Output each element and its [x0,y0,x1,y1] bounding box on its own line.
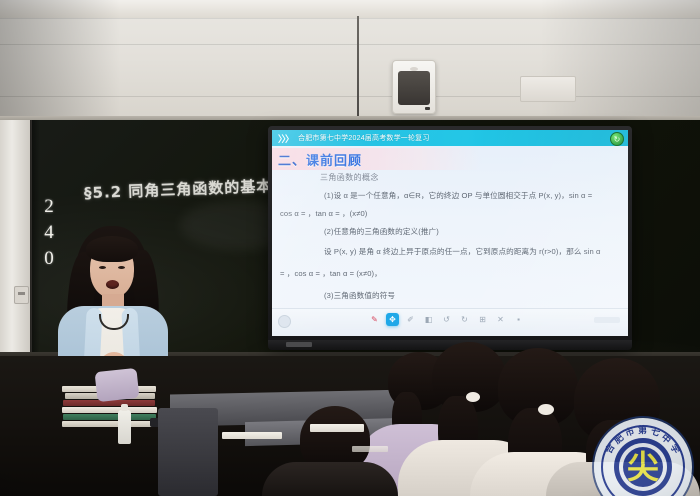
teacher-eye-left [99,266,106,269]
logo-char: 学 [668,441,684,455]
podium [158,408,218,496]
smart-display-screen[interactable]: 〉〉〉 合肥市第七中学2024届高考数学一轮复习 ↻ 二、课前回顾 三角函数的概… [272,130,628,336]
slide-subtitle: 三角函数的概念 [320,172,379,183]
page-circle-icon[interactable] [278,315,291,328]
teacher-eye-right [118,266,125,269]
slide-section-number: 二、 [278,153,306,168]
desk-paper [310,424,364,432]
hair-tie [538,404,554,415]
logo-char: 第 [638,423,647,436]
book [63,414,156,420]
wall-speaker-unit [392,60,436,114]
slide-line-4: 设 P(x, y) 是角 α 终边上异于原点的任一点，它到原点的距离为 r(r>… [324,246,601,257]
wall-panel-plate [520,76,576,102]
book [62,421,158,427]
speaker-led-icon [425,107,430,110]
toolbar-icon-group: ✎✥✐◧↺↻⊞✕▪ [368,313,525,326]
teacher-fringe [86,236,138,262]
slide-section-title: 课前回顾 [306,153,362,168]
annotate-icon[interactable]: ✎ [368,313,381,326]
slide-line-3: (2)任意角的三角函数的定义(推广) [324,226,439,237]
redo-icon[interactable]: ↻ [458,313,471,326]
classroom-screenshot: §5.2 同角三角函数的基本关系 2 4 0 〉〉〉 合肥市第七中学2024届高… [0,0,700,496]
slide-line-1: (1)设 α 是一个任意角，α∈R，它的终边 OP 与单位圆相交于点 P(x, … [324,190,592,201]
pen-icon[interactable]: ✐ [404,313,417,326]
hair-tie [466,392,480,402]
hanging-cable [357,16,359,128]
logo-glyph-icon: 尖 [623,445,663,489]
student-shoulders [262,462,398,496]
speaker-grille [398,71,430,105]
more-icon[interactable]: ▪ [512,313,525,326]
close-icon[interactable]: ✕ [494,313,507,326]
chevron-right-icon: 〉〉〉 [278,132,293,145]
pointer-icon[interactable]: ✥ [386,313,399,326]
chalk-digit: 2 [36,194,62,220]
slide-line-2: cos α = ，tan α = ，(x≠0) [280,208,367,219]
slide-header-bar: 〉〉〉 合肥市第七中学2024届高考数学一轮复习 ↻ [272,130,628,146]
eraser-icon[interactable]: ◧ [422,313,435,326]
desk-paper [352,446,388,452]
teacher-bag [95,368,140,402]
toolbar-right-stub [594,317,620,323]
refresh-icon[interactable]: ↻ [610,132,624,146]
slide-title: 二、课前回顾 [278,150,362,169]
display-brand-logo [286,342,312,347]
teacher-mouth [106,280,119,289]
grid-icon[interactable]: ⊞ [476,313,489,326]
course-title: 合肥市第七中学2024届高考数学一轮复习 [298,133,430,143]
undo-icon[interactable]: ↺ [440,313,453,326]
whiteboard-side-panel [0,120,32,360]
water-bottle [118,410,131,444]
wall-shadow-left [0,0,120,130]
slide-line-6: (3)三角函数值的符号 [324,290,395,301]
hefei-no7-high-school-logo: 合肥市第七中学 尖 HEFEI NO.7 HIGH SCHOOL [594,418,692,496]
logo-char: 市 [623,424,636,439]
slide-line-5: = ，cos α = ，tan α = (x≠0)， [280,268,382,279]
logo-char: 合 [602,441,618,455]
display-toolbar: ✎✥✐◧↺↻⊞✕▪ [272,308,628,336]
desk-paper [222,432,282,439]
book [62,407,157,413]
wall-socket [14,286,29,304]
